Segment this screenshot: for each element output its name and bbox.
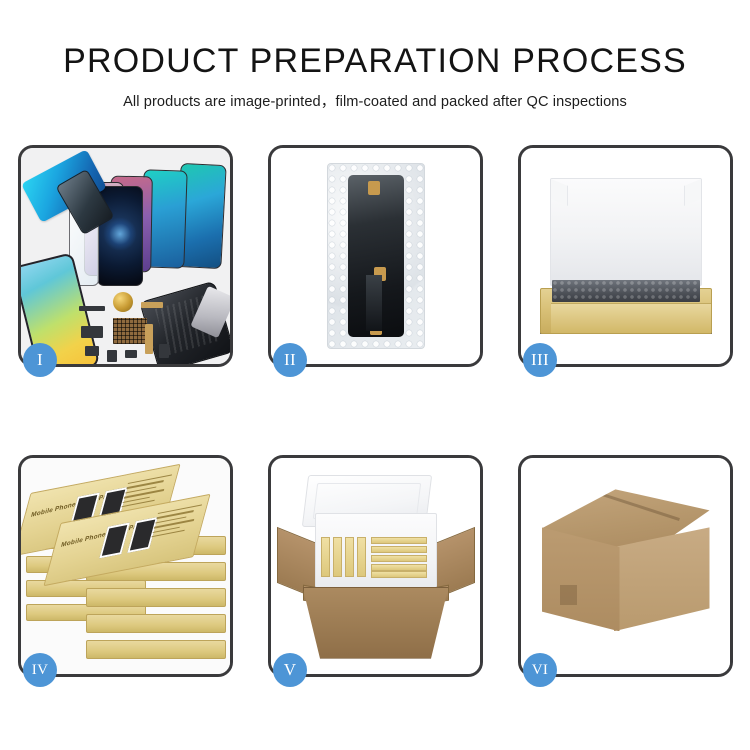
gold-tab-icon [368, 181, 380, 195]
process-step-6: VI [518, 455, 733, 677]
part-strip-icon [79, 306, 105, 311]
vibration-motor-icon [113, 292, 133, 312]
wrapped-lcd-part-icon [348, 175, 404, 337]
step-1-image [21, 148, 230, 364]
step-3-badge: III [523, 343, 557, 377]
part-camera-icon [107, 350, 117, 362]
carton-seam-icon [581, 486, 681, 521]
step-4-badge: IV [23, 653, 57, 687]
box-lid-icon [550, 178, 702, 286]
step-3-image [521, 148, 730, 364]
step-6-image [521, 458, 730, 674]
step-1-badge: I [23, 343, 57, 377]
stacked-box-icon [86, 588, 226, 607]
process-step-4: Mobile Phone Spare Parts Mobile Phone Sp… [18, 455, 233, 677]
page-subtitle: All products are image-printed，film-coat… [0, 80, 750, 111]
box-window-icon [99, 523, 130, 559]
step-4-image: Mobile Phone Spare Parts Mobile Phone Sp… [21, 458, 230, 674]
foam-padding-icon [552, 280, 700, 302]
step-2-badge: II [273, 343, 307, 377]
flex-ribbon-icon [145, 324, 153, 354]
step-6-badge: VI [523, 653, 557, 687]
gold-tab-icon [374, 267, 386, 281]
open-inner-box-icon [536, 178, 716, 342]
process-step-3: III [518, 145, 733, 367]
step-5-image [271, 458, 480, 674]
packed-yellow-boxes-icon [321, 537, 429, 579]
page-title: PRODUCT PREPARATION PROCESS [0, 0, 750, 80]
part-small-icon [85, 346, 99, 356]
bubble-wrap-bag-icon [327, 163, 425, 349]
box-spec-lines [150, 505, 202, 541]
part-bracket-icon [81, 326, 103, 338]
header: PRODUCT PREPARATION PROCESS All products… [0, 0, 750, 111]
sealed-carton-icon [536, 489, 716, 651]
open-carton-icon [281, 487, 471, 663]
process-step-grid: I II [18, 145, 732, 677]
box-tray-front-icon [551, 303, 711, 333]
stacked-box-icon [86, 614, 226, 633]
flex-cable-icon [141, 302, 163, 308]
process-step-5: V [268, 455, 483, 677]
carton-tape-icon [560, 585, 577, 605]
carton-tape-icon [570, 649, 587, 669]
step-2-image [271, 148, 480, 364]
carton-body-icon [303, 587, 449, 659]
retail-box-stack-icon: Mobile Phone Spare Parts Mobile Phone Sp… [26, 480, 226, 660]
part-connector-icon [159, 344, 169, 358]
gold-tab-icon [370, 321, 382, 335]
circuit-board-icon [113, 318, 147, 344]
product-preparation-infographic: PRODUCT PREPARATION PROCESS All products… [0, 0, 750, 750]
part-speaker-icon [125, 350, 137, 358]
process-step-1: I [18, 145, 233, 367]
process-step-2: II [268, 145, 483, 367]
stacked-box-icon [86, 640, 226, 659]
step-5-badge: V [273, 653, 307, 687]
